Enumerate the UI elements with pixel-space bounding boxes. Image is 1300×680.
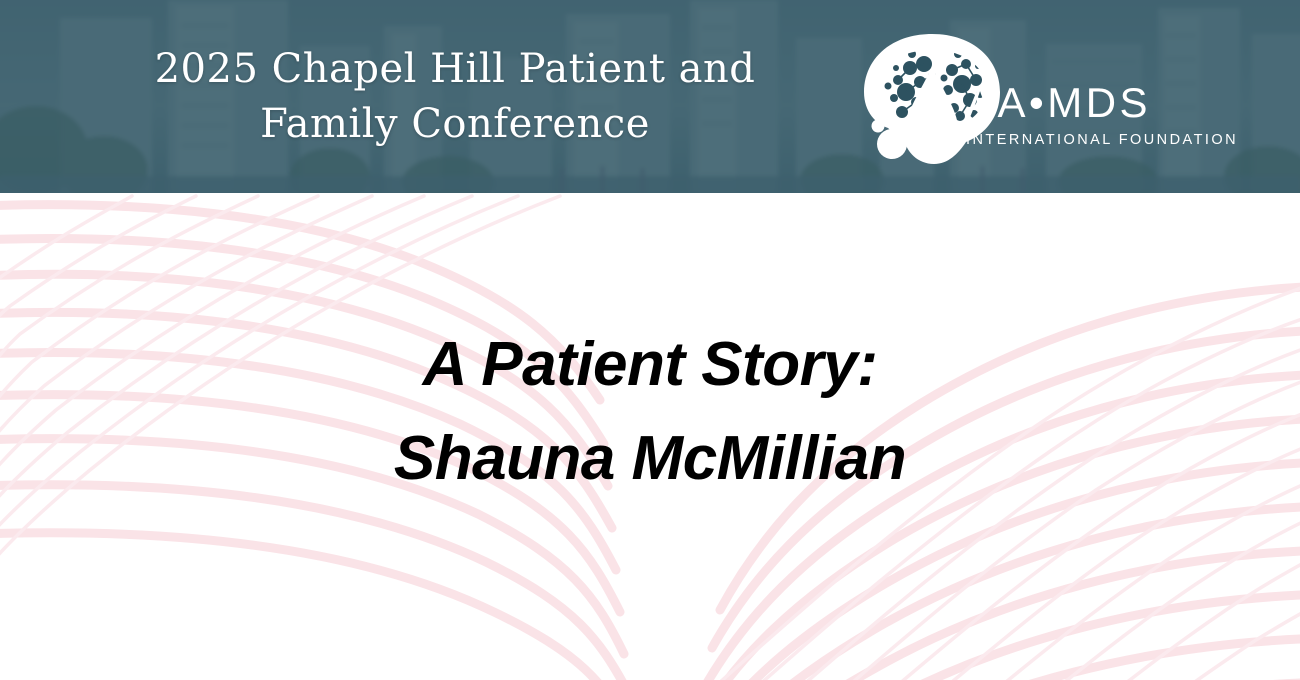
header-banner: 2025 Chapel Hill Patient and Family Conf… bbox=[0, 0, 1300, 193]
logo-aamds-text: AA•MDS bbox=[966, 82, 1192, 124]
logo-tagline-text: INTERNATIONAL FOUNDATION bbox=[966, 133, 1192, 148]
slide-title-line-1: A Patient Story: bbox=[0, 318, 1300, 412]
slide-title-line-2: Shauna McMillian bbox=[0, 412, 1300, 506]
conference-title-line-1: 2025 Chapel Hill Patient and bbox=[60, 42, 850, 97]
slide-title: A Patient Story: Shauna McMillian bbox=[0, 318, 1300, 506]
logo-wordmark: AA•MDS INTERNATIONAL FOUNDATION bbox=[966, 82, 1192, 148]
presentation-slide: A Patient Story: Shauna McMillian bbox=[0, 0, 1300, 680]
conference-title-line-2: Family Conference bbox=[60, 97, 850, 152]
conference-title: 2025 Chapel Hill Patient and Family Conf… bbox=[60, 42, 850, 152]
aamds-logo: AA•MDS INTERNATIONAL FOUNDATION bbox=[862, 24, 1192, 172]
